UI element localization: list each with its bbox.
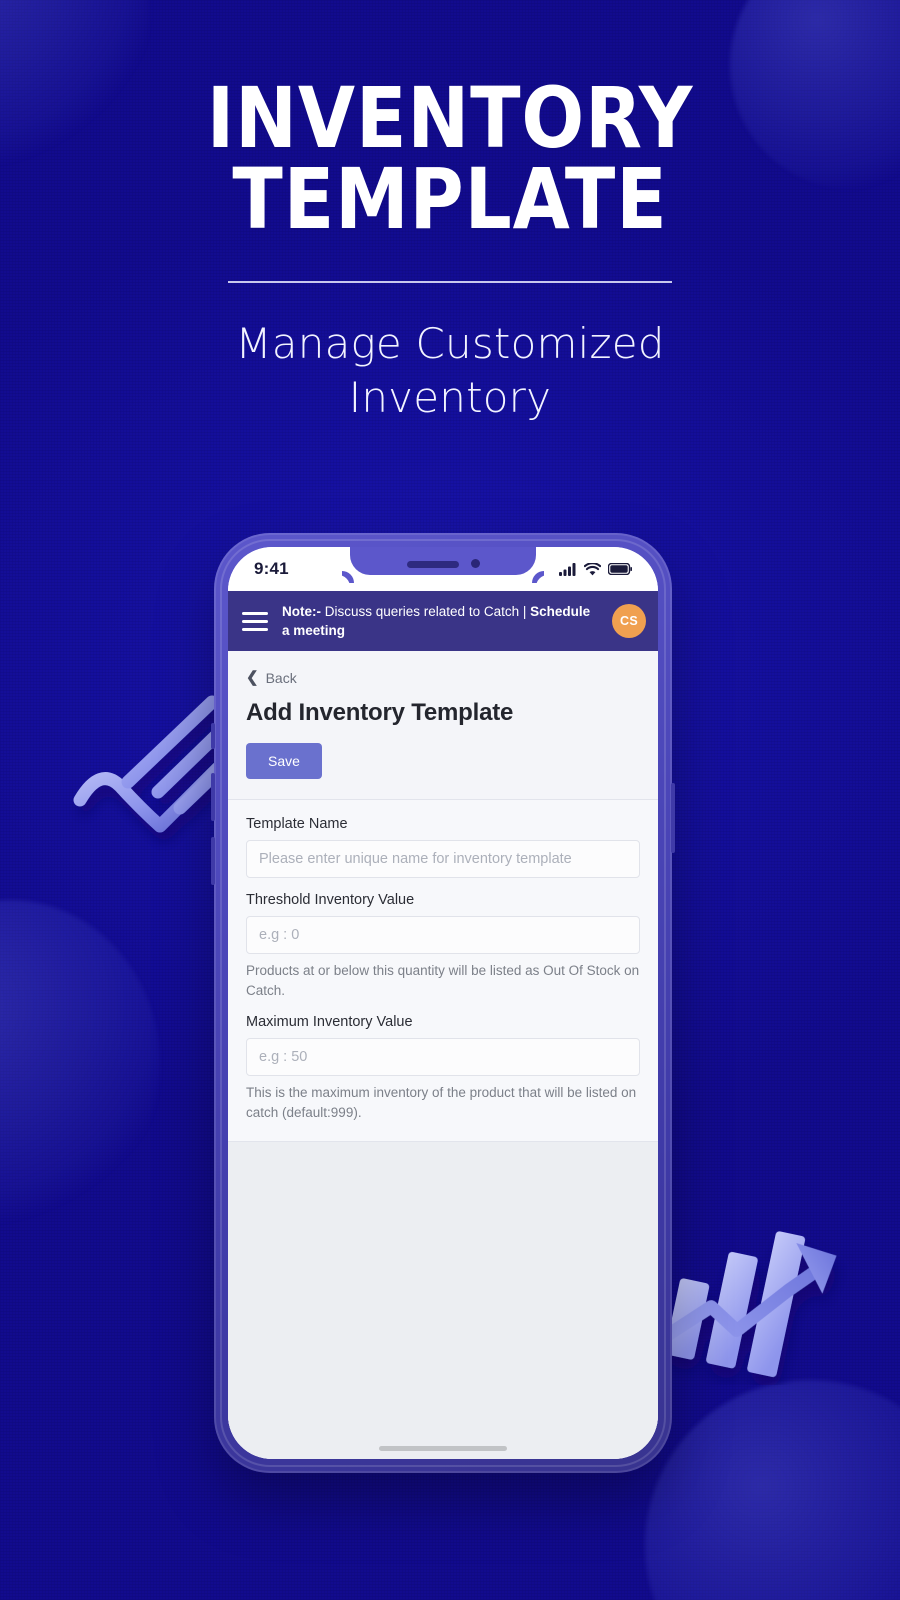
maximum-value-input[interactable] [246,1038,640,1076]
threshold-value-help-text: Products at or below this quantity will … [246,961,640,1000]
phone-mockup: 9:41 [214,533,672,1473]
page-empty-area [228,1142,658,1459]
home-indicator[interactable] [379,1446,507,1451]
hamburger-line [242,612,268,615]
threshold-value-input[interactable] [246,916,640,954]
page-content: ❮ Back Add Inventory Template Save Templ… [228,651,658,1459]
status-bar-icons [559,563,632,576]
hamburger-icon[interactable] [242,612,268,631]
inventory-template-form: Template Name Threshold Inventory Value … [228,800,658,1141]
phone-volume-down-button[interactable] [211,837,215,885]
template-name-input[interactable] [246,840,640,878]
back-button-label: Back [266,670,297,686]
phone-mute-switch[interactable] [211,723,215,749]
wifi-icon [584,563,601,576]
template-name-label: Template Name [246,816,640,832]
phone-power-button[interactable] [671,783,675,853]
maximum-value-help-text: This is the maximum inventory of the pro… [246,1083,640,1122]
poster-header: INVENTORY TEMPLATE Manage Customized Inv… [0,78,900,425]
poster-title-line-2: TEMPLATE [54,159,846,240]
note-message: Note:- Discuss queries related to Catch … [282,602,598,640]
status-bar-time: 9:41 [254,559,289,579]
front-camera-icon [471,559,480,568]
field-group-maximum-value: Maximum Inventory Value This is the maxi… [246,1014,640,1122]
poster-subtitle: Manage Customized Inventory [0,317,900,425]
field-group-template-name: Template Name [246,816,640,878]
avatar[interactable]: CS [612,604,646,638]
note-body: Discuss queries related to Catch | [321,604,530,619]
battery-icon [608,563,632,575]
maximum-value-label: Maximum Inventory Value [246,1014,640,1030]
status-bar: 9:41 [228,547,658,591]
chevron-left-icon: ❮ [246,670,259,685]
app-note-bar: Note:- Discuss queries related to Catch … [228,591,658,651]
page-title: Add Inventory Template [246,699,640,727]
poster-title: INVENTORY TEMPLATE [54,78,846,239]
save-button[interactable]: Save [246,743,322,779]
note-prefix: Note:- [282,604,321,619]
signal-icon [559,563,577,576]
title-divider [228,281,672,283]
field-group-threshold-value: Threshold Inventory Value Products at or… [246,892,640,1000]
threshold-value-label: Threshold Inventory Value [246,892,640,908]
phone-volume-up-button[interactable] [211,773,215,821]
back-button[interactable]: ❮ Back [246,670,297,686]
hamburger-line [242,628,268,631]
poster-subtitle-line-1: Manage Customized [0,317,900,371]
earpiece-speaker [407,561,459,568]
hamburger-line [242,620,268,623]
poster-subtitle-line-2: Inventory [0,371,900,425]
page-header: ❮ Back Add Inventory Template Save [228,651,658,800]
phone-notch [350,547,536,575]
phone-screen: 9:41 [228,547,658,1459]
